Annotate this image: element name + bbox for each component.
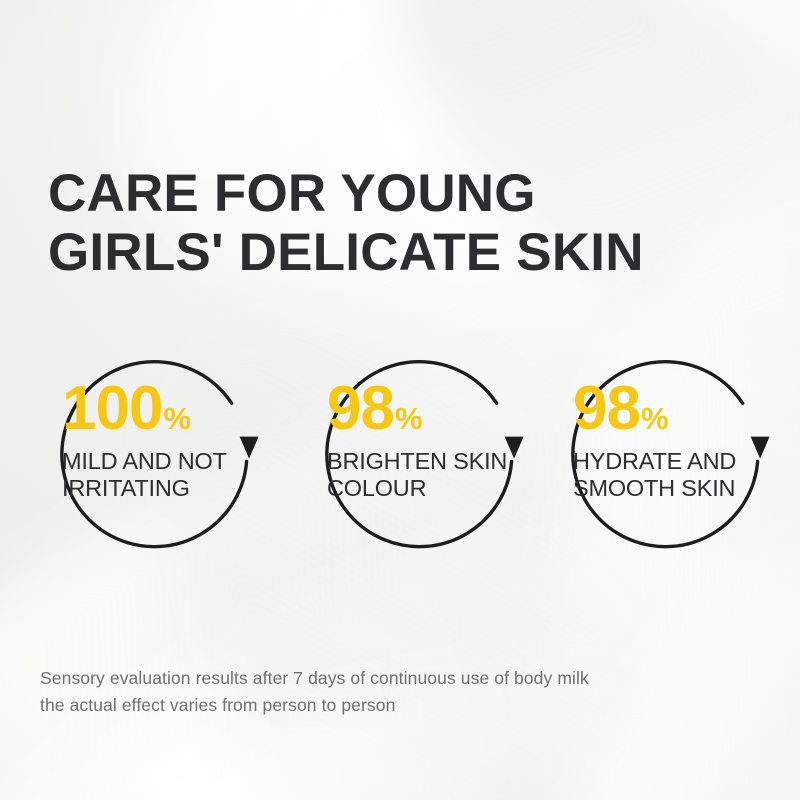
stat-unit: % xyxy=(641,401,669,436)
stat-content: 98% HYDRATE AND SMOOTH SKIN xyxy=(553,379,779,502)
stat-label: MILD AND NOT IRRITATING xyxy=(62,448,268,503)
stat-number: 98 xyxy=(573,374,640,443)
stat-value: 100% xyxy=(62,379,268,439)
stat-unit: % xyxy=(395,401,423,436)
stat-number: 98 xyxy=(327,374,394,443)
stat-unit: % xyxy=(163,401,191,436)
stat-circle-mild-and-not-irritating: 100% MILD AND NOT IRRITATING xyxy=(42,341,268,567)
stat-circle-brighten-skin-colour: 98% BRIGHTEN SKIN COLOUR xyxy=(307,341,533,567)
stat-content: 100% MILD AND NOT IRRITATING xyxy=(42,379,268,502)
footnote-text: Sensory evaluation results after 7 days … xyxy=(40,665,740,720)
stat-circle-group: 100% MILD AND NOT IRRITATING 98% BRIGHTE… xyxy=(0,341,800,573)
promo-poster: CARE FOR YOUNG GIRLS' DELICATE SKIN 100%… xyxy=(0,0,800,800)
stat-circle-hydrate-and-smooth-skin: 98% HYDRATE AND SMOOTH SKIN xyxy=(553,341,779,567)
stat-label: BRIGHTEN SKIN COLOUR xyxy=(327,448,533,503)
stat-number: 100 xyxy=(62,374,162,443)
stat-label: HYDRATE AND SMOOTH SKIN xyxy=(573,448,779,503)
page-title: CARE FOR YOUNG GIRLS' DELICATE SKIN xyxy=(48,164,748,284)
stat-value: 98% xyxy=(573,379,779,439)
stat-value: 98% xyxy=(327,379,533,439)
stat-content: 98% BRIGHTEN SKIN COLOUR xyxy=(307,379,533,502)
